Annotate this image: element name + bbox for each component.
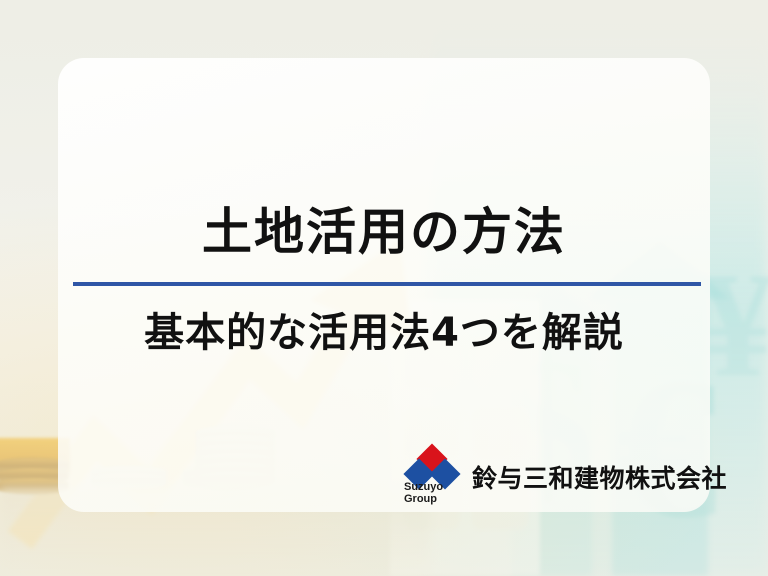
- presentation-slide: $ € ¥: [0, 0, 768, 576]
- company-name: 鈴与三和建物株式会社: [472, 459, 727, 497]
- page-subtitle: 基本的な活用法4つを解説: [58, 300, 710, 358]
- title-divider: [73, 282, 701, 286]
- page-title: 土地活用の方法: [58, 192, 710, 264]
- logo-wordmark-line2: Group: [404, 494, 460, 506]
- logo-wordmark-line1: Suzuyo: [404, 482, 460, 494]
- logo-wordmark: Suzuyo Group: [404, 482, 460, 505]
- company-logo-lockup: Suzuyo Group 鈴与三和建物株式会社: [404, 448, 727, 508]
- suzuyo-diamond-logo-icon: Suzuyo Group: [404, 448, 460, 508]
